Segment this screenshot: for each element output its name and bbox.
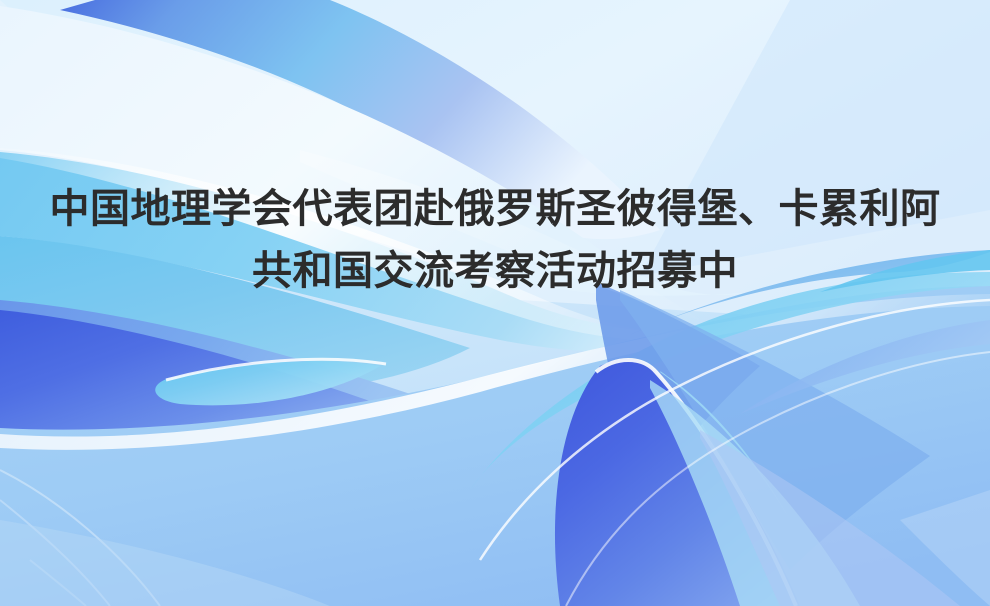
background-artwork bbox=[0, 0, 990, 606]
banner-graphic: 中国地理学会代表团赴俄罗斯圣彼得堡、卡累利阿 共和国交流考察活动招募中 bbox=[0, 0, 990, 606]
